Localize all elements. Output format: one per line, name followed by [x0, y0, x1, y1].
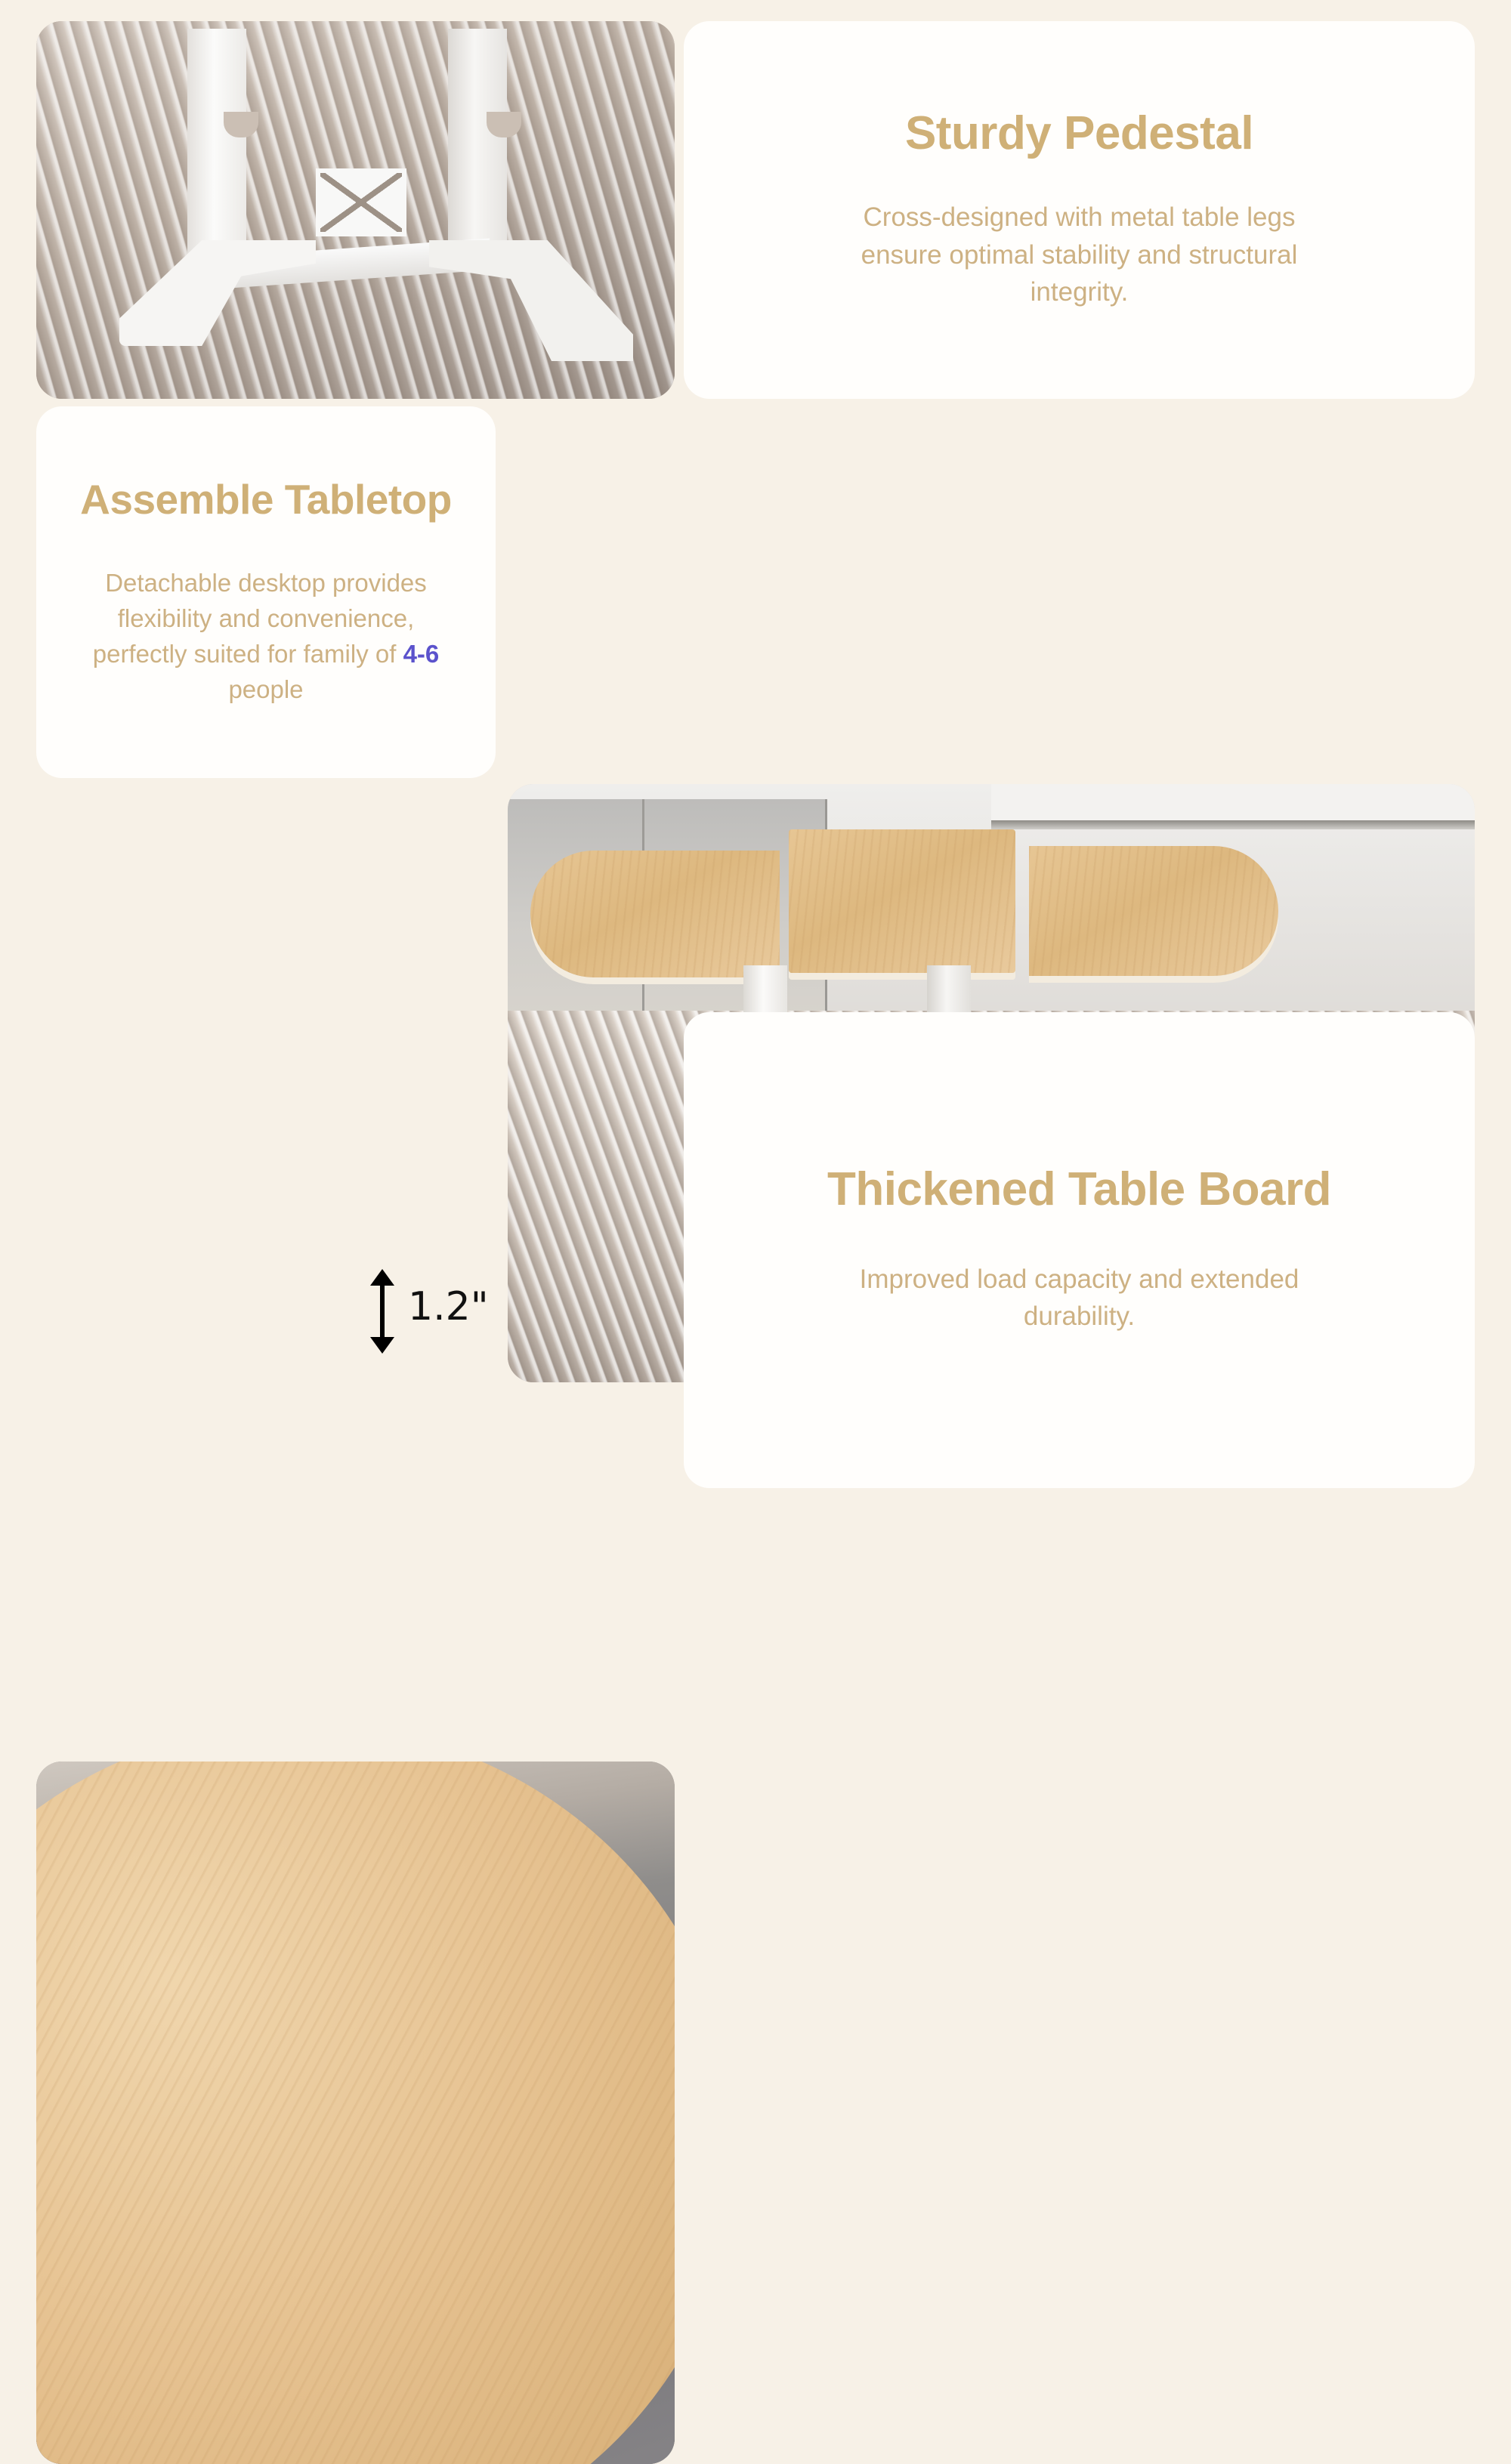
- tabletop-surface: [36, 1762, 675, 2464]
- card-sturdy-pedestal: Sturdy Pedestal Cross-designed with meta…: [684, 21, 1475, 399]
- card-title-sturdy-pedestal: Sturdy Pedestal: [905, 109, 1253, 159]
- card-thickened-table-board: Thickened Table Board Improved load capa…: [684, 1012, 1475, 1488]
- pedestal-notch-left: [224, 112, 258, 137]
- photo-sturdy-pedestal: [36, 21, 675, 399]
- pedestal-column-right: [448, 29, 507, 255]
- card-assemble-tabletop: Assemble Tabletop Detachable desktop pro…: [36, 406, 496, 778]
- card-title-assemble-tabletop: Assemble Tabletop: [80, 477, 452, 522]
- pedestal-cross-bracket: [316, 168, 406, 236]
- pedestal-notch-right: [487, 112, 521, 137]
- body-text-after: people: [228, 675, 303, 703]
- card-body-thickened-table-board: Improved load capacity and extended dura…: [838, 1261, 1321, 1335]
- body-text-before: Detachable desktop provides flexibility …: [93, 569, 427, 668]
- thickness-label: 1.2": [408, 1284, 489, 1329]
- card-body-assemble-tabletop: Detachable desktop provides flexibility …: [88, 566, 443, 707]
- tabletop-leaf-left: [530, 851, 780, 977]
- card-body-sturdy-pedestal: Cross-designed with metal table legs ens…: [838, 199, 1321, 311]
- card-title-thickened-table-board: Thickened Table Board: [827, 1165, 1331, 1215]
- tabletop-leaf-center: [789, 829, 1015, 973]
- seating-capacity-highlight: 4-6: [403, 640, 440, 668]
- photo-thickened-table-board: [36, 1762, 675, 2464]
- kitchen-counter-edge: [991, 820, 1475, 829]
- kitchen-backsplash: [991, 784, 1475, 820]
- pedestal-column-left: [187, 29, 246, 255]
- infographic-grid: Sturdy Pedestal Cross-designed with meta…: [0, 0, 1511, 1511]
- double-arrow-icon: [361, 1269, 403, 1354]
- tabletop-leaf-right: [1029, 846, 1278, 976]
